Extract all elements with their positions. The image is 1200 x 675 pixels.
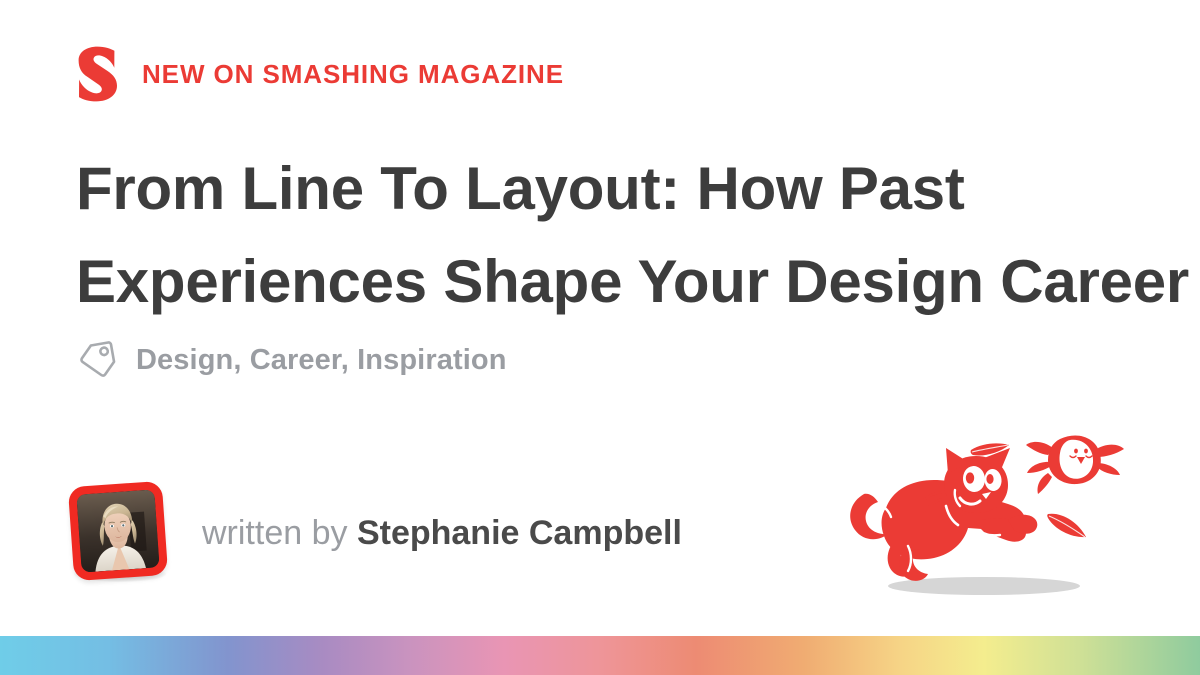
article-title: From Line To Layout: How Past Experience… [76,142,1136,328]
social-share-card: NEW ON SMASHING MAGAZINE From Line To La… [0,0,1200,675]
avatar [64,482,176,586]
author-byline: written by Stephanie Campbell [64,482,682,586]
tags-label: Design, Career, Inspiration [136,346,507,375]
author-name: Stephanie Campbell [357,514,682,552]
byline-prefix: written by [202,514,348,552]
avatar-frame [68,481,168,581]
kicker-label: NEW ON SMASHING MAGAZINE [142,61,564,87]
rainbow-gradient-bar-icon [0,636,1200,675]
article-tags: Design, Career, Inspiration [76,336,507,384]
smashing-cat-and-bird-illustration-icon [848,418,1136,604]
tag-icon [76,338,120,382]
byline-text: written by Stephanie Campbell [202,516,682,552]
smashing-s-logo-icon [76,46,124,102]
title-line-1: From Line To Layout: How Past [76,142,1136,235]
title-line-2: Experiences Shape Your Design Career [76,235,1136,328]
brand-kicker: NEW ON SMASHING MAGAZINE [76,46,564,102]
author-avatar-photo-icon [76,489,159,572]
